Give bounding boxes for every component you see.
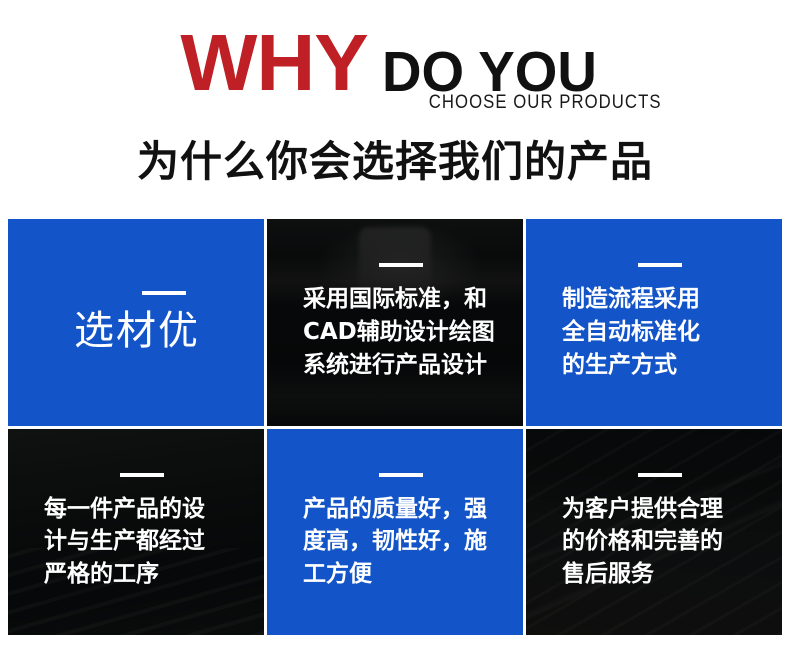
page-title-chinese: 为什么你会选择我们的产品 — [0, 128, 790, 189]
feature-cell-2-text: 采用国际标准，和 CAD辅助设计绘图 系统进行产品设计 — [303, 283, 523, 381]
feature-cell-5-inner: 产品的质量好，强 度高，韧性好，施 工方便 — [267, 429, 523, 636]
feature-cell-4[interactable]: 每一件产品的设 计与生产都经过 严格的工序 — [8, 429, 264, 636]
feature-cell-5[interactable]: 产品的质量好，强 度高，韧性好，施 工方便 — [267, 429, 523, 636]
divider-dash-icon — [638, 263, 682, 267]
divider-dash-icon — [120, 473, 164, 477]
banner-header: WHY DO YOU CHOOSE OUR PRODUCTS 为什么你会选择我们… — [0, 0, 790, 205]
divider-dash-icon — [142, 291, 186, 295]
feature-cell-6-inner: 为客户提供合理 的价格和完善的 售后服务 — [526, 429, 782, 636]
feature-cell-3[interactable]: 制造流程采用 全自动标准化 的生产方式 — [526, 219, 782, 426]
feature-cell-5-text: 产品的质量好，强 度高，韧性好，施 工方便 — [303, 493, 523, 591]
feature-cell-6-text: 为客户提供合理 的价格和完善的 售后服务 — [562, 493, 782, 591]
headline-rest-words: DO YOU — [382, 46, 597, 98]
divider-dash-icon — [379, 263, 423, 267]
feature-cell-1[interactable]: 选材优 — [8, 219, 264, 426]
feature-cell-2-inner: 采用国际标准，和 CAD辅助设计绘图 系统进行产品设计 — [267, 219, 523, 426]
feature-cell-3-text: 制造流程采用 全自动标准化 的生产方式 — [562, 283, 782, 381]
feature-cell-6[interactable]: 为客户提供合理 的价格和完善的 售后服务 — [526, 429, 782, 636]
feature-cell-3-inner: 制造流程采用 全自动标准化 的生产方式 — [526, 219, 782, 426]
feature-cell-1-text: 选材优 — [44, 309, 264, 353]
headline-accent-word: WHY — [181, 26, 368, 100]
feature-grid: 选材优 采用国际标准，和 CAD辅助设计绘图 系统进行产品设计 制造流程采用 全… — [8, 219, 782, 635]
why-choose-us-banner: WHY DO YOU CHOOSE OUR PRODUCTS 为什么你会选择我们… — [0, 0, 790, 665]
divider-dash-icon — [638, 473, 682, 477]
divider-dash-icon — [379, 473, 423, 477]
feature-cell-4-text: 每一件产品的设 计与生产都经过 严格的工序 — [44, 493, 264, 591]
headline-subline: CHOOSE OUR PRODUCTS — [429, 92, 662, 114]
feature-cell-2[interactable]: 采用国际标准，和 CAD辅助设计绘图 系统进行产品设计 — [267, 219, 523, 426]
feature-cell-1-inner: 选材优 — [8, 219, 264, 426]
feature-cell-4-inner: 每一件产品的设 计与生产都经过 严格的工序 — [8, 429, 264, 636]
headline-row: WHY DO YOU — [0, 18, 790, 100]
